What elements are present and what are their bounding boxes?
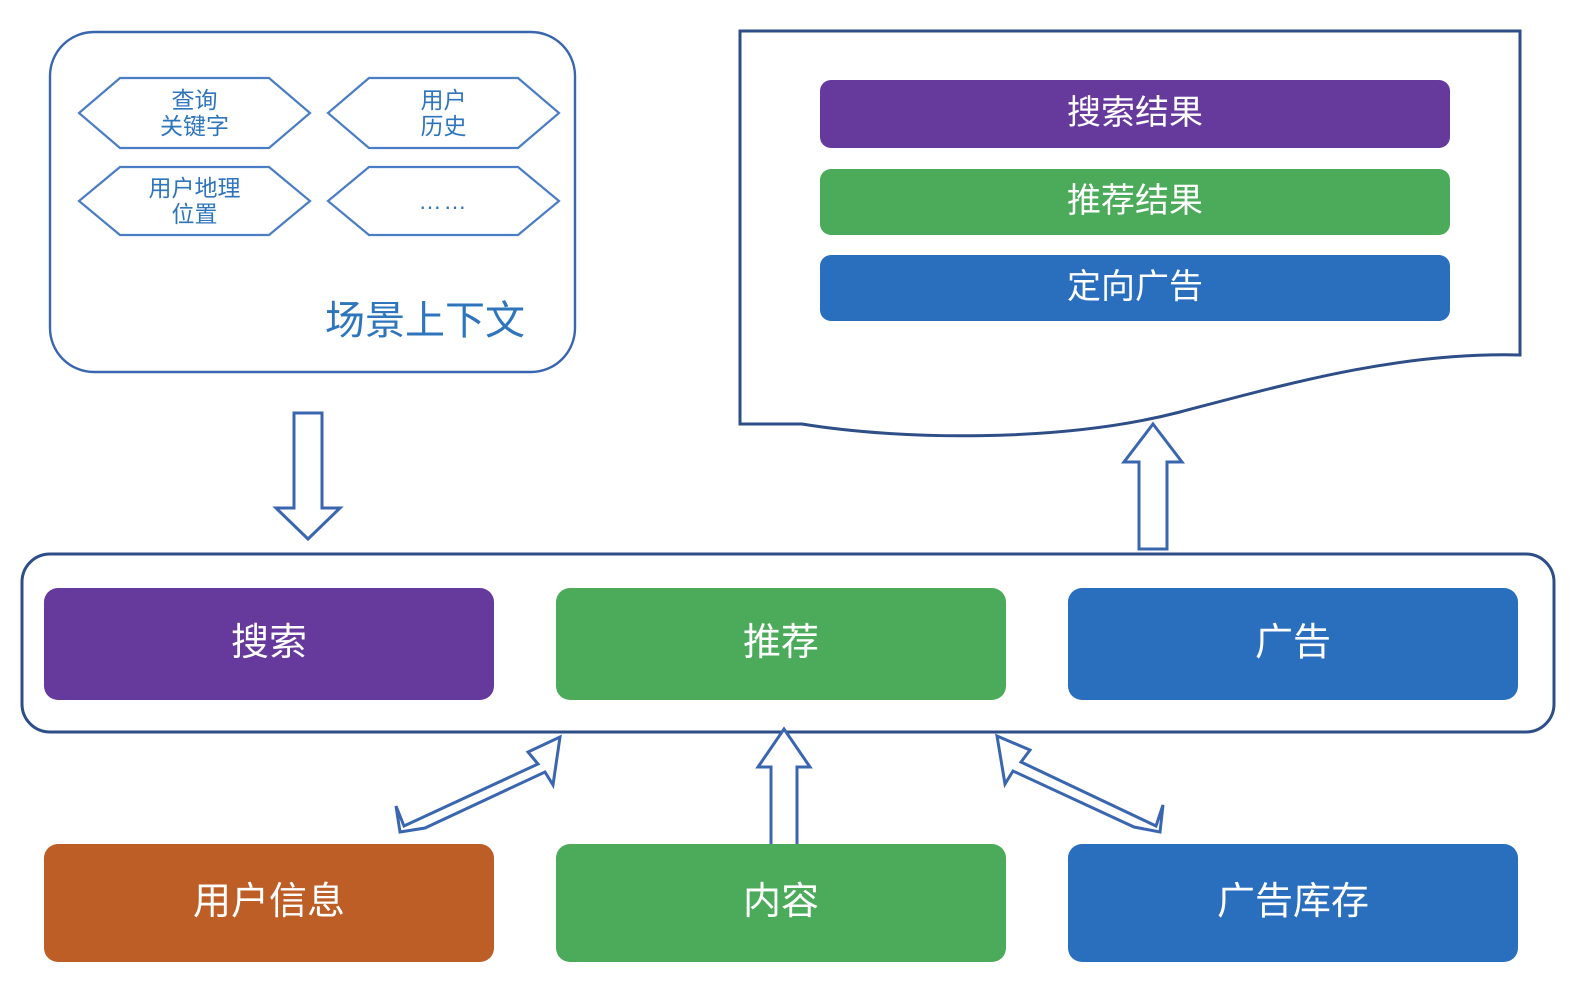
hexagon-user-geo <box>79 167 310 235</box>
service-box-ads[interactable] <box>1068 588 1518 700</box>
service-box-recommend[interactable] <box>556 588 1006 700</box>
service-box-search[interactable] <box>44 588 494 700</box>
arrow-userinfo-to-search <box>396 737 560 832</box>
arrow-adinventory-to-ads <box>997 736 1163 832</box>
hexagon-query-keyword <box>79 78 310 148</box>
arrow-content-to-recommend <box>758 729 810 851</box>
result-bar-search-results[interactable] <box>820 80 1450 148</box>
arrow-service-to-results <box>1124 424 1182 549</box>
data-box-content[interactable] <box>556 844 1006 962</box>
result-bar-recommend-results[interactable] <box>820 169 1450 235</box>
data-box-user-info[interactable] <box>44 844 494 962</box>
result-bar-targeted-ads[interactable] <box>820 255 1450 321</box>
data-box-ad-inventory[interactable] <box>1068 844 1518 962</box>
diagram-vector-layer <box>0 0 1576 988</box>
diagram-canvas: 查询 关键字 用户 历史 用户地理 位置 …… 场景上下文 搜索结果 推荐结果 … <box>0 0 1576 988</box>
arrow-context-to-service <box>276 413 340 539</box>
